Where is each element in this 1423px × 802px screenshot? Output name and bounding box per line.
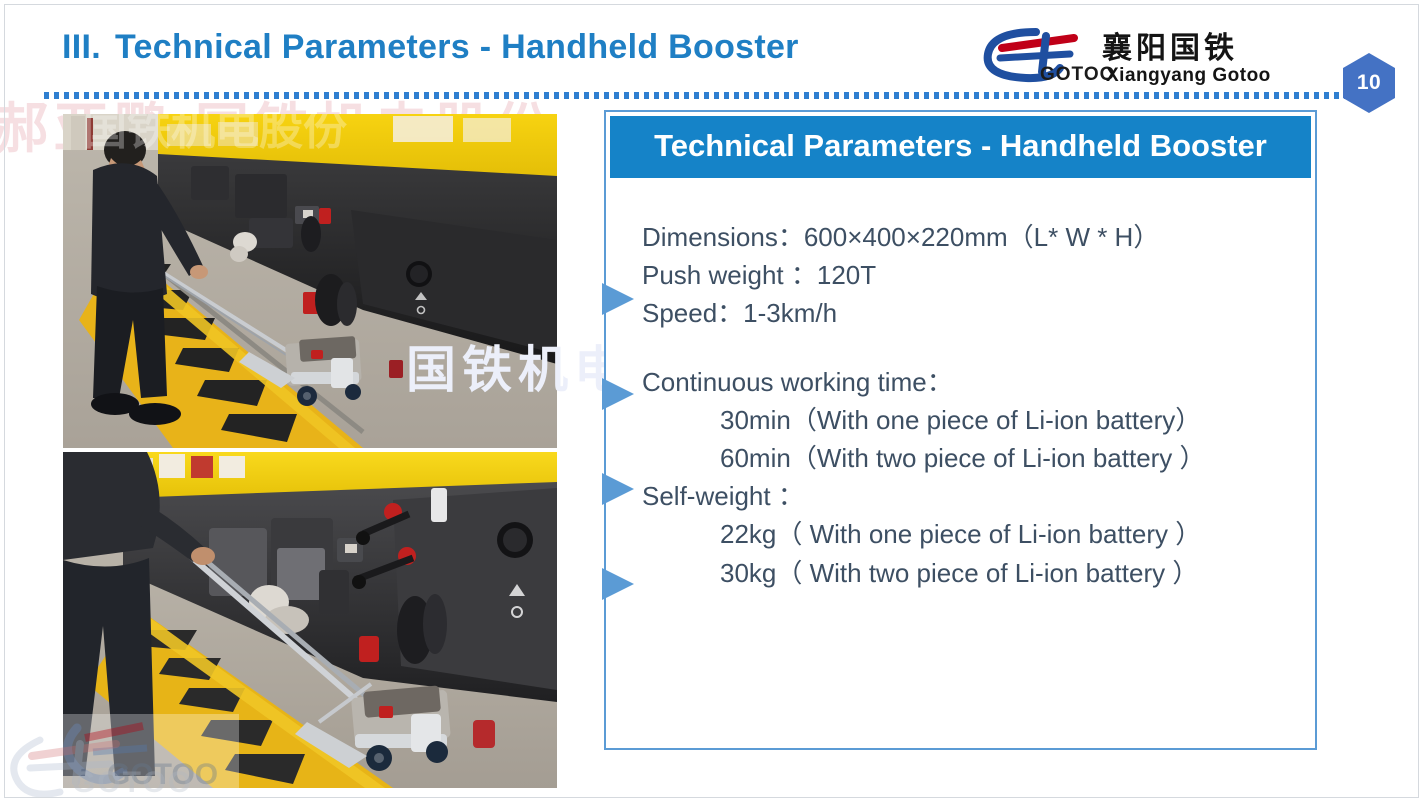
page-number: 10 — [1338, 52, 1400, 114]
svg-text:Xiangyang Gotoo: Xiangyang Gotoo — [1106, 65, 1271, 86]
svg-text:GOTOO: GOTOO — [107, 758, 218, 788]
param-line: Push weight ：120T — [642, 256, 1307, 294]
photo-top-illustration: 国铁机电股份 — [63, 114, 557, 448]
page-title-numeral: III. — [62, 28, 101, 66]
svg-text:GOTOO: GOTOO — [1040, 64, 1115, 85]
param-line: 30kg（ With two piece of Li-ion battery ） — [642, 554, 1307, 592]
page-title-text: Technical Parameters - Handheld Booster — [115, 28, 799, 66]
param-line: Continuous working time： — [642, 363, 1307, 401]
page-number-badge: 10 — [1338, 52, 1400, 114]
param-line: 22kg（ With one piece of Li-ion battery ） — [642, 515, 1307, 553]
logo-graphic: GOTOO 襄阳国铁 Xiangyang Gotoo — [978, 24, 1290, 86]
photo-worker-pushing-booster-close: GOTOO — [63, 452, 557, 788]
slide: 郝亚鹏 国铁机电股份 — [0, 0, 1423, 802]
svg-text:襄阳国铁: 襄阳国铁 — [1102, 31, 1238, 66]
company-logo: GOTOO 襄阳国铁 Xiangyang Gotoo GOTOO 襄阳国铁 Xi… — [978, 24, 1290, 86]
param-line: Speed：1-3km/h — [642, 294, 1307, 332]
page-title: III.Technical Parameters - Handheld Boos… — [62, 28, 799, 67]
logo-brand-chinese: 襄阳国铁 — [1290, 24, 1291, 25]
param-line: 60min（With two piece of Li-ion battery ） — [642, 439, 1307, 477]
header-divider — [44, 92, 1384, 99]
svg-text:国铁机电股份: 国铁机电股份 — [83, 114, 347, 155]
logo-brand-latin: GOTOO — [1290, 24, 1291, 25]
photo-worker-pushing-booster-wide: 国铁机电股份 — [63, 114, 557, 448]
param-line: Dimensions：600×400×220mm（L* W * H） — [642, 218, 1307, 256]
tech-parameters-panel: Technical Parameters - Handheld Booster … — [604, 110, 1317, 750]
param-line: Self-weight ： — [642, 477, 1307, 515]
param-line: 30min（With one piece of Li-ion battery） — [642, 401, 1307, 439]
panel-title: Technical Parameters - Handheld Booster — [610, 116, 1311, 178]
panel-body: Dimensions：600×400×220mm（L* W * H） Push … — [606, 182, 1315, 592]
block-spacer — [642, 333, 1307, 363]
logo-brand-subtitle: Xiangyang Gotoo — [1290, 24, 1291, 25]
photo-bottom-illustration: GOTOO — [63, 452, 557, 788]
